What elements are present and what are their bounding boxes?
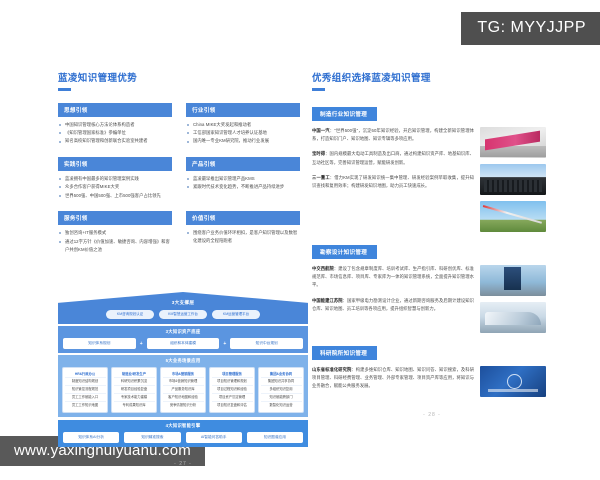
apps-grid-cell: 研发项目经验复盘 — [114, 386, 155, 394]
advantage-bullet: China MIKE大奖发起和推动者 — [186, 121, 300, 129]
apps-grid-cell: 项目知识复盘和评估 — [212, 402, 253, 409]
apps-grid-cell: 员工工作知识地图 — [65, 402, 106, 409]
apps-grid-column: 市场&营销服务市场&营销知识管理产品服务知识库客户知识地图和经验竞争情报知识分析 — [160, 367, 206, 413]
apps-grid-cell: 知识管控流程规范 — [65, 386, 106, 394]
platform-band-row: 知识体系AI分析知识精准搜索AI智能问答助手知识图谱应用 — [63, 432, 303, 443]
case-thumbnail-column — [480, 265, 546, 333]
case-company-name: 中国一汽 — [312, 128, 330, 133]
advantage-bullet: 《知识管理国家标准》参编单位 — [58, 129, 172, 137]
assets-box: 组织和本体建模 — [147, 338, 220, 349]
advantage-card-header: 产品引领 — [186, 157, 300, 171]
apps-grid-cell: 竞争情报知识分析 — [163, 402, 204, 409]
apps-column-header: 制造业/研发生产 — [114, 371, 155, 379]
case-text-column: 山东省标准化研究院：构建多维知识仓库、知识地图、知识问答、知识搜索，及科研项目管… — [312, 366, 480, 398]
apps-band-title: 5大业务场景应用 — [62, 358, 304, 364]
roof-pill: KM咨询规划认证 — [106, 310, 154, 319]
apps-grid-cell: 员工工作赋能入口 — [65, 394, 106, 402]
advantage-card: 服务引领独创咨询+IT服务模式通过12字方针《价值加速、敏捷咨询、内容增强》和客… — [58, 211, 172, 254]
advantage-card-grid: 思想引领中国知识管理核心方法论体系构造者《知识管理国家标准》参编单位知名高校知识… — [58, 103, 308, 265]
advantage-bullet: 世界500强、中国500强、上市500强客户占比领先 — [58, 192, 172, 200]
apps-grid-cell: 数智化知识运营 — [261, 402, 302, 409]
left-column: 蓝凌知识管理优势 思想引领中国知识管理核心方法论体系构造者《知识管理国家标准》参… — [58, 70, 308, 265]
case-thumbnail-image — [480, 302, 546, 333]
apps-column-header: 市场&营销服务 — [163, 371, 204, 379]
advantage-card-header: 实践引领 — [58, 157, 172, 171]
advantage-card: 价值引领围绕客户业务价值环环相扣，是客户知识管理以及数智化建设的全程陪跑者 — [186, 211, 300, 254]
right-page-number: - 28 - — [312, 412, 552, 418]
platform-box: AI智能问答助手 — [186, 432, 242, 443]
case-thumbnail-image — [480, 127, 546, 158]
case-sections: 制造行业知识管理中国一汽："世界500强"，沉淀60年知识经验，开启知识管理，构… — [312, 103, 552, 398]
apps-grid-cell: 多组织知识复用 — [261, 386, 302, 394]
case-paragraph: 中交西航院：建设了包含规章制度库、培训考试库、生产指引库、科研创优库、标准规范库… — [312, 265, 474, 290]
advantage-bullet: 蓝凌最早推出知识管理产品KMS — [186, 175, 300, 183]
case-company-name: 三一重工 — [312, 175, 330, 180]
case-section-header: 科研院所知识管理 — [312, 346, 377, 360]
advantage-card: 思想引领中国知识管理核心方法论体系构造者《知识管理国家标准》参编单位知名高校知识… — [58, 103, 172, 146]
case-thumbnail-image — [480, 366, 546, 397]
apps-grid-cell: 产品服务知识库 — [163, 386, 204, 394]
case-company-name: 宝时得 — [312, 151, 325, 156]
right-section-title: 优秀组织选择蓝凌知识管理 — [312, 70, 552, 84]
left-page-number: - 27 - — [58, 461, 308, 467]
advantage-bullet: 知名高校知识管理和创新联合实验室共建者 — [58, 137, 172, 145]
advantage-bullet: 蓝凌拥有中国最多的知识管理案例实践 — [58, 175, 172, 183]
right-title-rule — [312, 88, 325, 91]
case-company-name: 中国能建江苏院 — [312, 298, 343, 303]
case-thumbnail-image — [480, 265, 546, 296]
advantage-card-header: 服务引领 — [58, 211, 172, 225]
apps-grid-cell: 项目知识管理和规划 — [212, 378, 253, 386]
apps-grid-column: 制造业/研发生产科研知识积累沉淀研发项目经验复盘专家技术能力建模专利成果知识库 — [111, 367, 157, 413]
case-block: 中国一汽："世界500强"，沉淀60年知识经验，开启知识管理，构建全新知识管理体… — [312, 127, 552, 232]
advantage-bullet: 中国知识管理核心方法论体系构造者 — [58, 121, 172, 129]
apps-grid-cell: 专利成果知识库 — [114, 402, 155, 409]
advantage-bullet: 众多合作客户获得MIKE大奖 — [58, 183, 172, 191]
case-company-name: 山东省标准化研究院 — [312, 367, 351, 372]
apps-grid-cell: 客户知识地图和经验 — [163, 394, 204, 402]
case-paragraph: 中国能建江苏院：国家甲级电力勘测设计企业，通过新期咨询服务及后期计建设知识仓库、… — [312, 297, 474, 314]
advantage-bullet: 紧跟时代技术变化趋势，不断推进产品持续进步 — [186, 183, 300, 191]
diagram-assets-band: 3大知识资产底座 知识体系规划+组织和本体建模+知识中台规划 — [58, 326, 308, 353]
advantage-card-header: 价值引领 — [186, 211, 300, 225]
case-section: 勘察设计知识管理中交西航院：建设了包含规章制度库、培训考试库、生产指引库、科研创… — [312, 241, 552, 333]
apps-column-header: 集团&业务协同 — [261, 371, 302, 379]
roof-pill-row: KM咨询规划认证KM智慧运营工作台KM运营管理平台 — [58, 310, 308, 319]
platform-band-title: 4大知识智能引擎 — [63, 423, 303, 429]
case-paragraph: 山东省标准化研究院：构建多维知识仓库、知识地图、知识问答、知识搜索，及科研项目管… — [312, 366, 474, 391]
diagram-platform-band: 4大知识智能引擎 知识体系AI分析知识精准搜索AI智能问答助手知识图谱应用 — [58, 420, 308, 447]
case-description: ：国内规模最大电动工具制造及出口商，通过构建知识资产库、地基知识库、互动社区等，… — [312, 151, 474, 164]
roof-pill: KM运营管理平台 — [212, 310, 260, 319]
advantage-bullet: 通过12字方针《价值加速、敏捷咨询、内容增强》和客户共创KM价值之池 — [58, 238, 172, 254]
case-paragraph: 中国一汽："世界500强"，沉淀60年知识经验，开启知识管理，构建全新知识管理体… — [312, 127, 474, 144]
apps-grid: HR&行政办公制度知识结构规划知识管控流程规范员工工作赋能入口员工工作知识地图制… — [62, 367, 304, 413]
apps-grid-column: 项目管理服务项目知识管理和规划项目过程知识和经验项目资产沉淀管理项目知识复盘和评… — [209, 367, 255, 413]
case-text-column: 中交西航院：建设了包含规章制度库、培训考试库、生产指引库、科研创优库、标准规范库… — [312, 265, 480, 333]
apps-grid-cell: 知识赋能跨部门 — [261, 394, 302, 402]
platform-box: 知识体系AI分析 — [63, 432, 119, 443]
case-thumbnail-column — [480, 366, 546, 398]
apps-grid-cell: 集团知识共享协同 — [261, 378, 302, 386]
case-thumbnail-image — [480, 164, 546, 195]
telegram-watermark: TG: MYYJJPP — [461, 12, 600, 45]
apps-grid-cell: 专家技术能力建模 — [114, 394, 155, 402]
brochure-page: TG: MYYJJPP www.yaxinghuiyuanu.com 蓝凌知识管… — [0, 0, 600, 480]
left-section-title: 蓝凌知识管理优势 — [58, 70, 308, 84]
apps-grid-cell: 项目资产沉淀管理 — [212, 394, 253, 402]
roof-pill: KM智慧运营工作台 — [159, 310, 207, 319]
assets-band-title: 3大知识资产底座 — [63, 329, 303, 335]
platform-box: 知识精准搜索 — [124, 432, 180, 443]
apps-grid-column: 集团&业务协同集团知识共享协同多组织知识复用知识赋能跨部门数智化知识运营 — [258, 367, 304, 413]
advantage-bullet: 工信部国家知识管理人才培养认证基地 — [186, 129, 300, 137]
architecture-diagram: 3大支撑层 KM咨询规划认证KM智慧运营工作台KM运营管理平台 3大知识资产底座… — [58, 292, 308, 467]
case-description: ：借力KM实现了研发知识统一集中管理、研发经验案例萃取收集，提升知识查找和复用效… — [312, 175, 474, 188]
assets-band-row: 知识体系规划+组织和本体建模+知识中台规划 — [63, 338, 303, 349]
advantage-bullet: 国内唯一专业KM研究院，推动行业发展 — [186, 137, 300, 145]
left-title-rule — [58, 88, 71, 91]
case-paragraph: 宝时得：国内规模最大电动工具制造及出口商，通过构建知识资产库、地基知识库、互动社… — [312, 150, 474, 167]
advantage-card: 实践引领蓝凌拥有中国最多的知识管理案例实践众多合作客户获得MIKE大奖世界500… — [58, 157, 172, 200]
advantage-card-header: 思想引领 — [58, 103, 172, 117]
right-column: 优秀组织选择蓝凌知识管理 制造行业知识管理中国一汽："世界500强"，沉淀60年… — [312, 70, 552, 407]
apps-column-header: 项目管理服务 — [212, 371, 253, 379]
apps-grid-cell: 制度知识结构规划 — [65, 378, 106, 386]
case-block: 山东省标准化研究院：构建多维知识仓库、知识地图、知识问答、知识搜索，及科研项目管… — [312, 366, 552, 398]
advantage-card-header: 行业引领 — [186, 103, 300, 117]
apps-grid-cell: 项目过程知识和经验 — [212, 386, 253, 394]
case-section-header: 制造行业知识管理 — [312, 107, 377, 121]
assets-box: 知识体系规划 — [63, 338, 136, 349]
advantage-card: 行业引领China MIKE大奖发起和推动者工信部国家知识管理人才培养认证基地国… — [186, 103, 300, 146]
diagram-apps-band: 5大业务场景应用 HR&行政办公制度知识结构规划知识管控流程规范员工工作赋能入口… — [58, 355, 308, 417]
apps-grid-cell: 市场&营销知识管理 — [163, 378, 204, 386]
apps-grid-cell: 科研知识积累沉淀 — [114, 378, 155, 386]
roof-title: 3大支撑层 — [58, 300, 308, 306]
platform-box: 知识图谱应用 — [247, 432, 303, 443]
plus-icon: + — [223, 341, 226, 347]
case-section-header: 勘察设计知识管理 — [312, 245, 377, 259]
case-thumbnail-image — [480, 201, 546, 232]
case-description: ：建设了包含规章制度库、培训考试库、生产指引库、科研创优库、标准规范库、市场信息… — [312, 266, 474, 288]
diagram-roof: 3大支撑层 KM咨询规划认证KM智慧运营工作台KM运营管理平台 — [58, 292, 308, 324]
case-company-name: 中交西航院 — [312, 266, 334, 271]
case-block: 中交西航院：建设了包含规章制度库、培训考试库、生产指引库、科研创优库、标准规范库… — [312, 265, 552, 333]
assets-box: 知识中台规划 — [230, 338, 303, 349]
case-section: 制造行业知识管理中国一汽："世界500强"，沉淀60年知识经验，开启知识管理，构… — [312, 103, 552, 232]
case-section: 科研院所知识管理山东省标准化研究院：构建多维知识仓库、知识地图、知识问答、知识搜… — [312, 342, 552, 398]
case-text-column: 中国一汽："世界500强"，沉淀60年知识经验，开启知识管理，构建全新知识管理体… — [312, 127, 480, 232]
plus-icon: + — [140, 341, 143, 347]
apps-grid-column: HR&行政办公制度知识结构规划知识管控流程规范员工工作赋能入口员工工作知识地图 — [62, 367, 108, 413]
advantage-bullet: 围绕客户业务价值环环相扣，是客户知识管理以及数智化建设的全程陪跑者 — [186, 229, 300, 245]
case-description: ："世界500强"，沉淀60年知识经验，开启知识管理，构建全新知识管理体系，打造… — [312, 128, 474, 141]
advantage-bullet: 独创咨询+IT服务模式 — [58, 229, 172, 237]
case-paragraph: 三一重工：借力KM实现了研发知识统一集中管理、研发经验案例萃取收集，提升知识查找… — [312, 174, 474, 191]
apps-column-header: HR&行政办公 — [65, 371, 106, 379]
advantage-card: 产品引领蓝凌最早推出知识管理产品KMS紧跟时代技术变化趋势，不断推进产品持续进步 — [186, 157, 300, 200]
case-thumbnail-column — [480, 127, 546, 232]
